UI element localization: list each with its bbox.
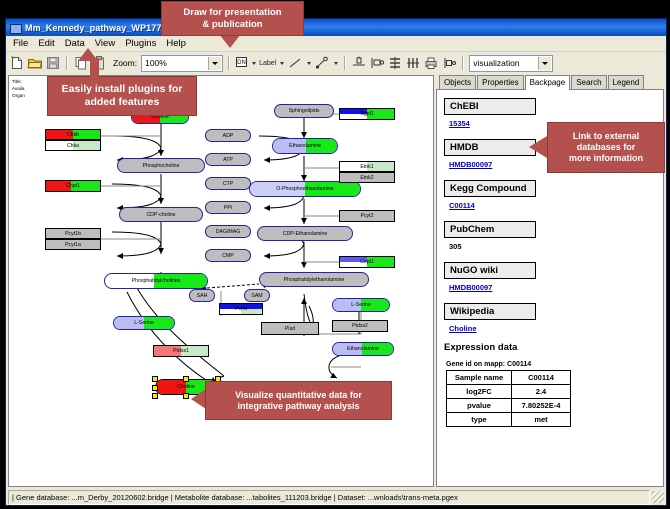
node-label: CDP-choline	[146, 212, 175, 218]
zoom-value: 100%	[145, 58, 167, 68]
node-label: L-Serine	[134, 320, 154, 326]
new-file-icon[interactable]	[9, 55, 25, 71]
expression-table: Sample name C00114 log2FC 2.4 pvalue 7.8…	[446, 370, 571, 427]
toolbar-separator-2	[228, 56, 230, 70]
node-sam[interactable]: SAM	[244, 289, 270, 302]
menu-bar: File Edit Data View Plugins Help	[6, 36, 666, 52]
db-header-kegg: Kegg Compound	[444, 180, 536, 197]
selection-handle-n[interactable]	[183, 376, 189, 382]
visualization-combobox[interactable]: visualization	[469, 55, 553, 72]
node-label: ATP	[223, 157, 233, 163]
callout-plugins: Easily install plugins for added feature…	[47, 76, 197, 116]
node-label: PPi	[224, 205, 232, 211]
cell-key: Sample name	[447, 371, 512, 385]
toolbar-separator-4	[462, 56, 464, 70]
app-window-icon	[9, 22, 21, 34]
db-link-nugo[interactable]: HMDB00097	[449, 283, 663, 292]
node-dag-mag[interactable]: DAG/MAG	[205, 225, 251, 238]
callout-visualize-arrow	[191, 389, 206, 409]
node-label: DAG/MAG	[216, 229, 241, 235]
status-bar: | Gene database: ...m_Derby_20120602.bri…	[6, 489, 666, 505]
gene-label: Ptdss1	[173, 348, 189, 354]
zoom-label: Zoom:	[113, 58, 137, 68]
db-header-chebi: ChEBI	[444, 98, 536, 115]
db-value-pubchem: 305	[449, 242, 663, 251]
stack-rows-icon[interactable]	[387, 55, 403, 71]
print-icon[interactable]	[423, 55, 439, 71]
label-dropdown-caret[interactable]	[278, 56, 285, 70]
node-atp[interactable]: ATP	[205, 153, 251, 166]
toolbar-separator-1	[66, 56, 68, 70]
gene-pemt[interactable]: Pemt	[219, 303, 263, 315]
datanode-dropdown-caret[interactable]	[250, 56, 257, 70]
node-label: CTP	[223, 181, 233, 187]
node-label: Phosphocholine	[143, 163, 180, 169]
table-row: log2FC 2.4	[447, 385, 571, 399]
interaction-dropdown-caret[interactable]	[332, 56, 339, 70]
callout-plugins-line2: added features	[85, 96, 160, 109]
gene-label: Pcyt2	[361, 213, 374, 219]
selection-handle-sw[interactable]	[152, 393, 158, 399]
node-o-phosphoethanolamine[interactable]: O-Phosphoethanolamine	[249, 181, 361, 197]
node-ethanolamine-top[interactable]: Ethanolamine	[272, 138, 338, 154]
line-dropdown-caret[interactable]	[305, 56, 312, 70]
node-label: Phosphatidylcholines	[132, 278, 181, 284]
chevron-down-icon-2[interactable]	[538, 57, 551, 70]
callout-draw: Draw for presentation & publication	[161, 1, 304, 36]
cell-value: 2.4	[512, 385, 571, 399]
node-label: O-Phosphoethanolamine	[276, 186, 333, 192]
tab-objects[interactable]: Objects	[439, 75, 476, 89]
table-row: pvalue 7.80252E-4	[447, 399, 571, 413]
gene-etnk2[interactable]: Etnk2	[339, 172, 395, 183]
node-label: Ethanolamine	[289, 143, 321, 149]
table-row: Sample name C00114	[447, 371, 571, 385]
gene-label: Chkb	[67, 132, 79, 138]
node-ethanolamine-right[interactable]: Ethanolamine	[332, 342, 394, 356]
gene-label: Etnk1	[360, 164, 373, 170]
node-label: Sphingolipids	[289, 108, 320, 114]
menu-item-help[interactable]: Help	[161, 37, 191, 50]
callout-link-line2: databases for	[577, 142, 636, 153]
gene-cept1[interactable]: Cept1	[339, 256, 395, 268]
db-header-wikipedia: Wikipedia	[444, 303, 536, 320]
gene-label: Sgpl1	[360, 111, 373, 117]
callout-plugins-arrow	[78, 48, 98, 61]
callout-link-arrow	[529, 136, 547, 158]
callout-visualize-line2: integrative pathway analysis	[237, 401, 359, 412]
toolbar-separator-3	[344, 56, 346, 70]
pathway-canvas-panel[interactable]: Title: Availa Organ	[8, 75, 434, 487]
screenshot-root: Mm_Kennedy_pathway_WP1771_45176.gpml Fil…	[0, 0, 670, 509]
selection-handle-s[interactable]	[183, 393, 189, 399]
gene-label: Pemt	[235, 306, 247, 312]
gene-label: Chka	[67, 143, 79, 149]
node-phosphocholine[interactable]: Phosphocholine	[117, 158, 205, 173]
line-icon[interactable]	[287, 55, 303, 71]
expression-data-heading: Expression data	[444, 342, 663, 353]
node-ppi[interactable]: PPi	[205, 201, 251, 214]
tab-search[interactable]: Search	[571, 75, 606, 89]
distribute-icon[interactable]	[405, 55, 421, 71]
gene-sgpl1[interactable]: Sgpl1	[339, 108, 395, 120]
toolbar: Zoom: 100% DN Label	[6, 52, 666, 75]
node-sphingolipids[interactable]: Sphingolipids	[274, 104, 334, 118]
open-folder-icon[interactable]	[27, 55, 43, 71]
cell-value: met	[512, 413, 571, 427]
gene-pcyt1b[interactable]: Pcyt1b	[45, 228, 101, 239]
callout-plugins-line1: Easily install plugins for	[62, 83, 183, 96]
gene-label: Etnk2	[360, 175, 373, 181]
callout-plugins-stem	[90, 58, 99, 81]
gene-chpt1[interactable]: Chpt1	[45, 180, 101, 192]
gene-chkb[interactable]: Chkb	[45, 129, 101, 140]
gene-label: Pcyt1a	[65, 242, 81, 248]
cell-key: log2FC	[447, 385, 512, 399]
gene-id-line: Gene id on mapp: C00114	[446, 361, 663, 368]
chevron-down-icon[interactable]	[208, 57, 221, 70]
gene-pcyt2[interactable]: Pcyt2	[339, 210, 395, 222]
node-cdp-ethanolamine[interactable]: CDP-Ethanolamine	[257, 226, 353, 241]
save-disk-icon[interactable]	[45, 55, 61, 71]
gene-ptdss1[interactable]: Ptdss1	[153, 345, 209, 357]
callout-draw-arrow	[219, 34, 241, 48]
cell-value: C00114	[512, 371, 571, 385]
node-adp[interactable]: ADP	[205, 129, 251, 142]
gene-label: Cept1	[360, 259, 374, 265]
node-l-serine-right[interactable]: L-Serine	[332, 298, 390, 312]
selection-handle-nw[interactable]	[152, 376, 158, 382]
resize-grip-icon[interactable]	[652, 491, 664, 503]
gene-label: Ptdss2	[352, 323, 368, 329]
db-header-pubchem: PubChem	[444, 221, 536, 238]
pathway-canvas[interactable]: Title: Availa Organ	[9, 76, 433, 486]
gene-ptdss2[interactable]: Ptdss2	[332, 320, 388, 332]
callout-visualize: Visualize quantitative data for integrat…	[205, 381, 392, 420]
application-window: Mm_Kennedy_pathway_WP1771_45176.gpml Fil…	[5, 18, 667, 506]
node-label: SAM	[251, 293, 262, 299]
gene-etnk1[interactable]: Etnk1	[339, 161, 395, 172]
datanode-icon[interactable]: DN	[235, 55, 248, 71]
callout-link-line1: Link to external	[573, 131, 640, 142]
node-phosphatidylcholines[interactable]: Phosphatidylcholines	[104, 273, 208, 289]
tab-backpage[interactable]: Backpage	[525, 75, 571, 90]
callout-draw-line2: & publication	[202, 19, 262, 30]
node-label: Ethanolamine	[347, 346, 379, 352]
cell-key: pvalue	[447, 399, 512, 413]
order-icon[interactable]	[441, 55, 457, 71]
label-button[interactable]: Label	[259, 60, 276, 67]
node-label: Phosphatidylethanolamine	[284, 277, 345, 283]
node-cdp-choline[interactable]: CDP-choline	[119, 207, 203, 222]
tab-legend[interactable]: Legend	[608, 75, 645, 89]
visualization-value: visualization	[473, 58, 519, 68]
db-header-hmdb: HMDB	[444, 139, 536, 156]
selection-handle-w[interactable]	[152, 385, 158, 391]
node-phosphatidylethanolamine[interactable]: Phosphatidylethanolamine	[259, 272, 369, 287]
gene-chka[interactable]: Chka	[45, 140, 101, 151]
node-ctp[interactable]: CTP	[205, 177, 251, 190]
node-label: ADP	[223, 133, 234, 139]
node-label: L-Serine	[351, 302, 371, 308]
node-label: CMP	[222, 253, 234, 259]
callout-link-line3: more information	[569, 153, 643, 164]
gene-label: Pcyt1b	[65, 231, 81, 237]
menu-item-edit[interactable]: Edit	[33, 37, 59, 50]
callout-visualize-line1: Visualize quantitative data for	[235, 390, 362, 401]
svg-text:DN: DN	[237, 60, 246, 66]
table-row: type met	[447, 413, 571, 427]
db-header-nugo: NuGO wiki	[444, 262, 536, 279]
node-sah[interactable]: SAH	[189, 289, 215, 302]
status-text: | Gene database: ...m_Derby_20120602.bri…	[8, 490, 650, 505]
align-center-icon[interactable]	[351, 55, 367, 71]
callout-draw-line1: Draw for presentation	[183, 7, 281, 18]
interaction-icon[interactable]	[314, 55, 330, 71]
align-left-icon[interactable]	[369, 55, 385, 71]
db-link-wikipedia[interactable]: Choline	[449, 324, 663, 333]
node-label: CDP-Ethanolamine	[283, 231, 327, 237]
node-label: SAH	[197, 293, 208, 299]
cell-value: 7.80252E-4	[512, 399, 571, 413]
gene-label: Pisd	[285, 326, 295, 332]
cell-key: type	[447, 413, 512, 427]
window-titlebar: Mm_Kennedy_pathway_WP1771_45176.gpml	[6, 19, 666, 36]
db-link-kegg[interactable]: C00114	[449, 201, 663, 210]
gene-pisd[interactable]: Pisd	[261, 322, 319, 335]
callout-link: Link to external databases for more info…	[547, 122, 665, 173]
zoom-combobox[interactable]: 100%	[141, 55, 223, 72]
gene-label: Chpt1	[66, 183, 80, 189]
sidebar-tabs: Objects Properties Backpage Search Legen…	[436, 75, 664, 90]
node-cmp[interactable]: CMP	[205, 249, 251, 262]
tab-properties[interactable]: Properties	[477, 75, 523, 89]
gene-pcyt1a[interactable]: Pcyt1a	[45, 239, 101, 250]
menu-item-file[interactable]: File	[8, 37, 33, 50]
menu-item-plugins[interactable]: Plugins	[120, 37, 161, 50]
node-l-serine-left[interactable]: L-Serine	[113, 316, 175, 330]
